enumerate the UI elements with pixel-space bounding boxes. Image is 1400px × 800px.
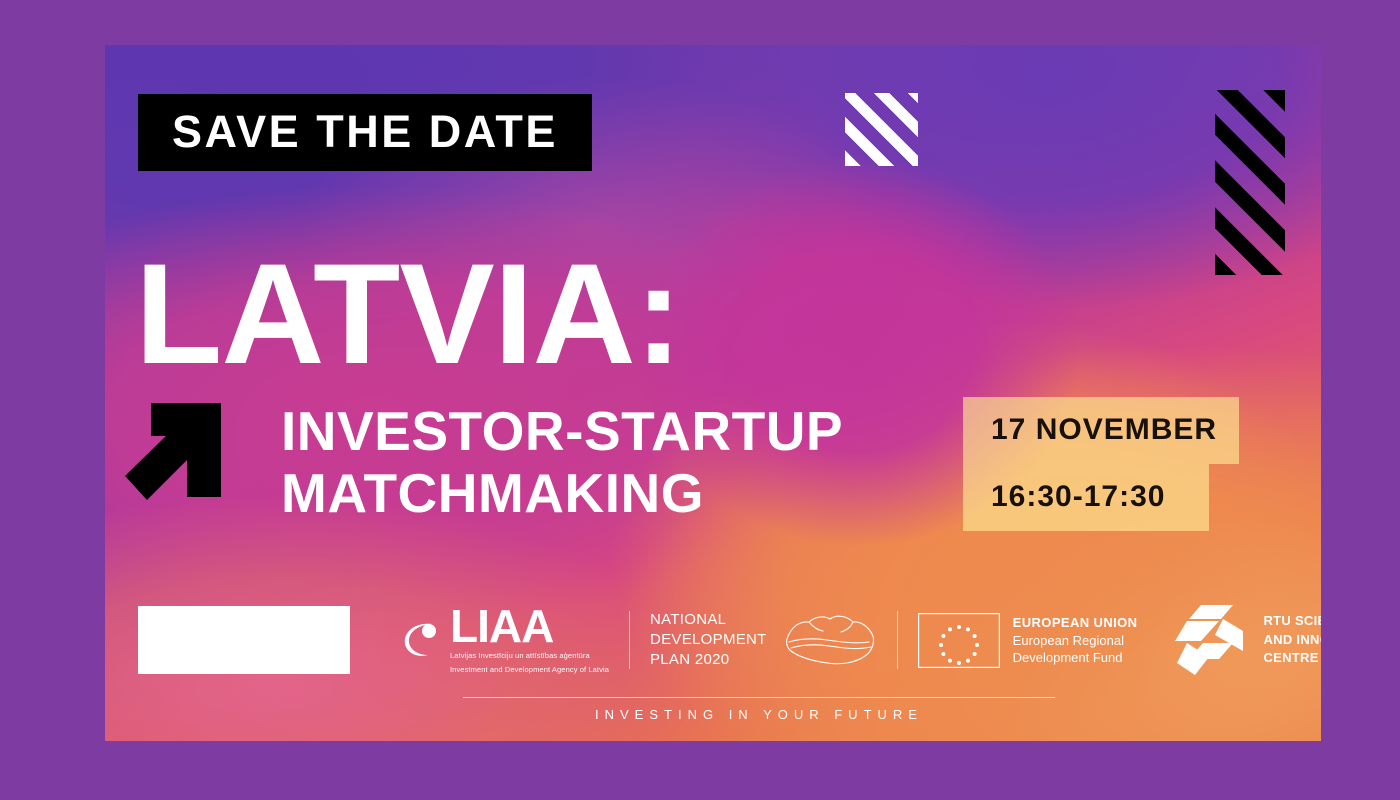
national-development-plan-logo: NATIONAL DEVELOPMENT PLAN 2020: [650, 610, 767, 670]
diagonal-stripes-square-white-icon: [845, 93, 918, 166]
rtu-line-2: AND INNOVATION: [1263, 631, 1321, 649]
arrow-up-right-icon: [125, 397, 227, 505]
subtitle-line-1: INVESTOR-STARTUP: [281, 400, 843, 462]
liaa-logo: LIAA Latvijas Investīciju un attīstības …: [402, 605, 609, 676]
subtitle-line-2: MATCHMAKING: [281, 462, 843, 524]
event-time: 16:30-17:30: [963, 464, 1209, 531]
rtu-line-3: CENTRE: [1263, 649, 1321, 667]
liaa-tagline-en: Investment and Development Agency of Lat…: [450, 664, 609, 675]
date-time-badge: 17 NOVEMBER 16:30-17:30: [963, 397, 1239, 531]
save-the-date-badge: SAVE THE DATE: [138, 94, 592, 171]
event-date: 17 NOVEMBER: [963, 397, 1239, 464]
page-title: LATVIA:: [135, 243, 681, 386]
eu-title: EUROPEAN UNION: [1013, 614, 1138, 632]
eu-flag-stars-icon: [918, 613, 1000, 668]
diagonal-stripes-block-black-icon: [1215, 90, 1285, 275]
slush-logo: [138, 606, 350, 674]
ndp-line-2: DEVELOPMENT: [650, 630, 767, 650]
liaa-wordmark: LIAA: [450, 605, 609, 647]
rtu-line-1: RTU SCIENCE: [1263, 612, 1321, 630]
footer-tagline: INVESTING IN YOUR FUTURE: [463, 707, 1055, 722]
eu-sub-line-2: Development Fund: [1013, 649, 1138, 666]
european-union-logo: EUROPEAN UNION European Regional Develop…: [918, 613, 1138, 668]
latvia-map-outline-icon: [783, 611, 877, 669]
rtu-logo: RTU SCIENCE AND INNOVATION CENTRE: [1171, 603, 1321, 677]
eu-sub-line-1: European Regional: [1013, 632, 1138, 649]
rtu-hexagon-mark-icon: [1171, 603, 1249, 677]
liaa-swoosh-icon: [402, 618, 446, 662]
ndp-line-1: NATIONAL: [650, 610, 767, 630]
logo-divider-1: [629, 611, 630, 669]
event-poster: SAVE THE DATE LATVIA: INVESTOR-STARTUP M…: [105, 45, 1321, 741]
event-subtitle: INVESTOR-STARTUP MATCHMAKING: [281, 400, 843, 524]
footer-divider: [463, 697, 1055, 698]
liaa-tagline-lv: Latvijas Investīciju un attīstības aģent…: [450, 650, 609, 661]
logo-divider-2: [897, 611, 898, 669]
sponsor-logo-row: LIAA Latvijas Investīciju un attīstības …: [138, 590, 1298, 690]
ndp-line-3: PLAN 2020: [650, 650, 767, 670]
